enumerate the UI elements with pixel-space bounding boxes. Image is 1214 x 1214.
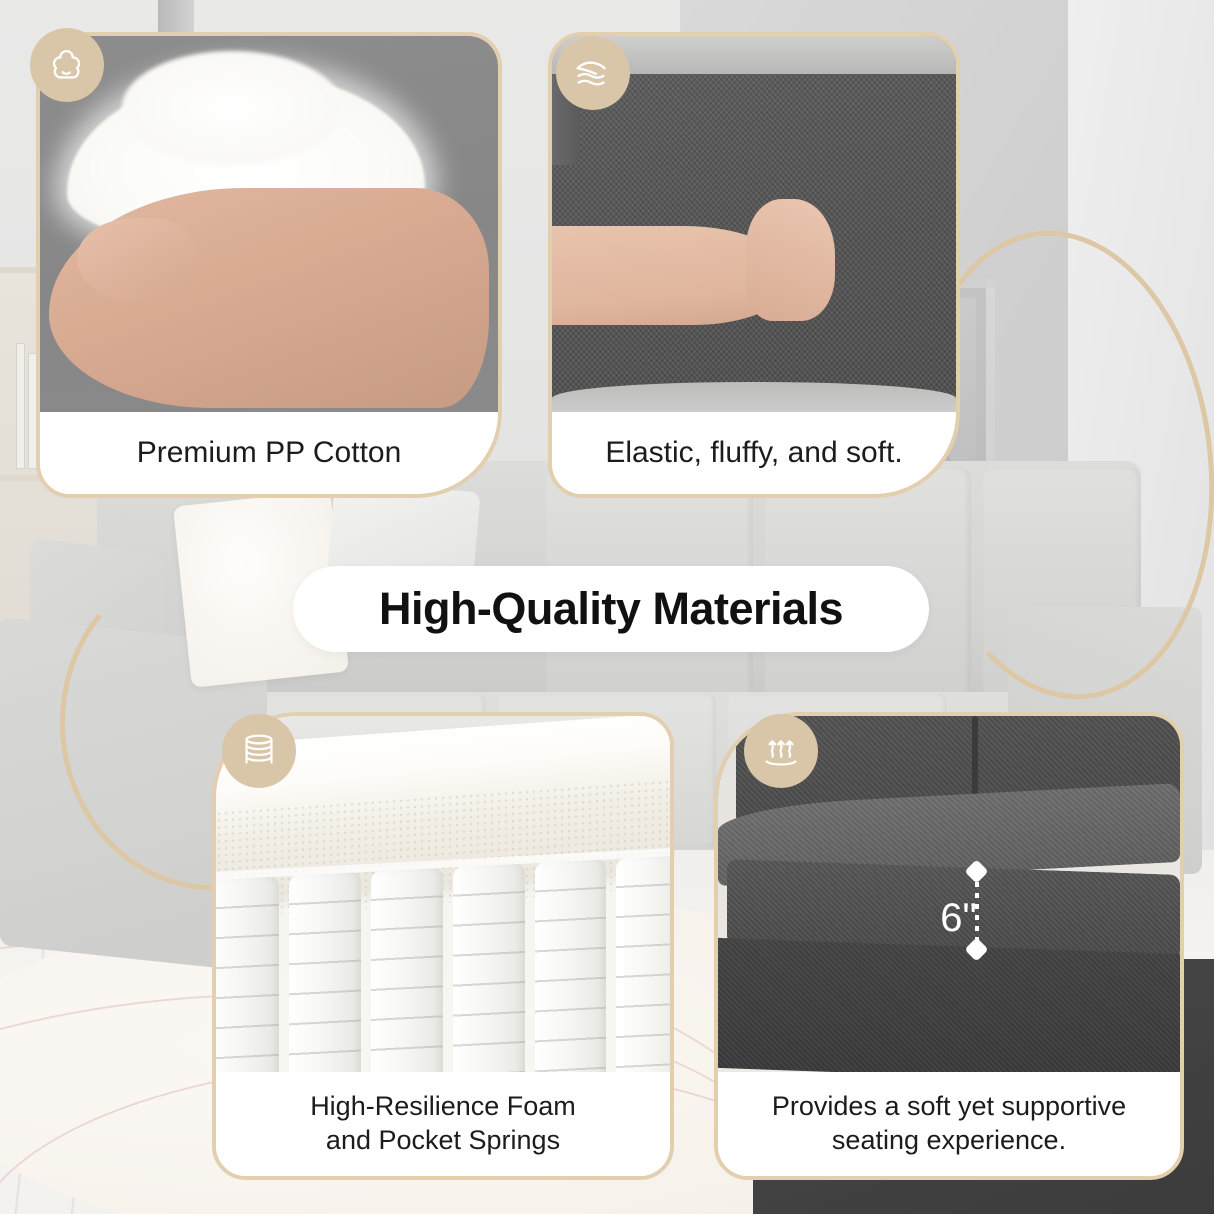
- soft-touch-hand-icon: [556, 36, 630, 110]
- page-title: High-Quality Materials: [379, 583, 843, 635]
- cotton-boll-icon: [30, 28, 104, 102]
- caption-text: Elastic, fluffy, and soft.: [605, 434, 902, 472]
- card-caption: Premium PP Cotton: [40, 412, 498, 494]
- main-title-banner: High-Quality Materials: [293, 566, 929, 652]
- caption-text-line2: seating experience.: [832, 1124, 1066, 1158]
- feature-card-high-resilience-foam[interactable]: High-Resilience Foam and Pocket Springs: [212, 712, 674, 1180]
- caption-text: Premium PP Cotton: [137, 434, 402, 472]
- caption-text-line1: Provides a soft yet supportive: [772, 1090, 1126, 1124]
- coil-spring-icon: [222, 714, 296, 788]
- cotton-photo: [40, 36, 498, 416]
- dimension-value: 6": [940, 898, 976, 938]
- feature-card-premium-pp-cotton[interactable]: Premium PP Cotton: [36, 32, 502, 498]
- caption-text-line1: High-Resilience Foam: [310, 1090, 576, 1124]
- caption-text-line2: and Pocket Springs: [326, 1124, 560, 1158]
- breathability-icon: [744, 714, 818, 788]
- card-caption: Provides a soft yet supportive seating e…: [718, 1072, 1180, 1176]
- product-feature-graphic: Premium PP Cotton Elastic, fluffy, and s…: [0, 0, 1214, 1214]
- card-caption: High-Resilience Foam and Pocket Springs: [216, 1072, 670, 1176]
- card-caption: Elastic, fluffy, and soft.: [552, 412, 956, 494]
